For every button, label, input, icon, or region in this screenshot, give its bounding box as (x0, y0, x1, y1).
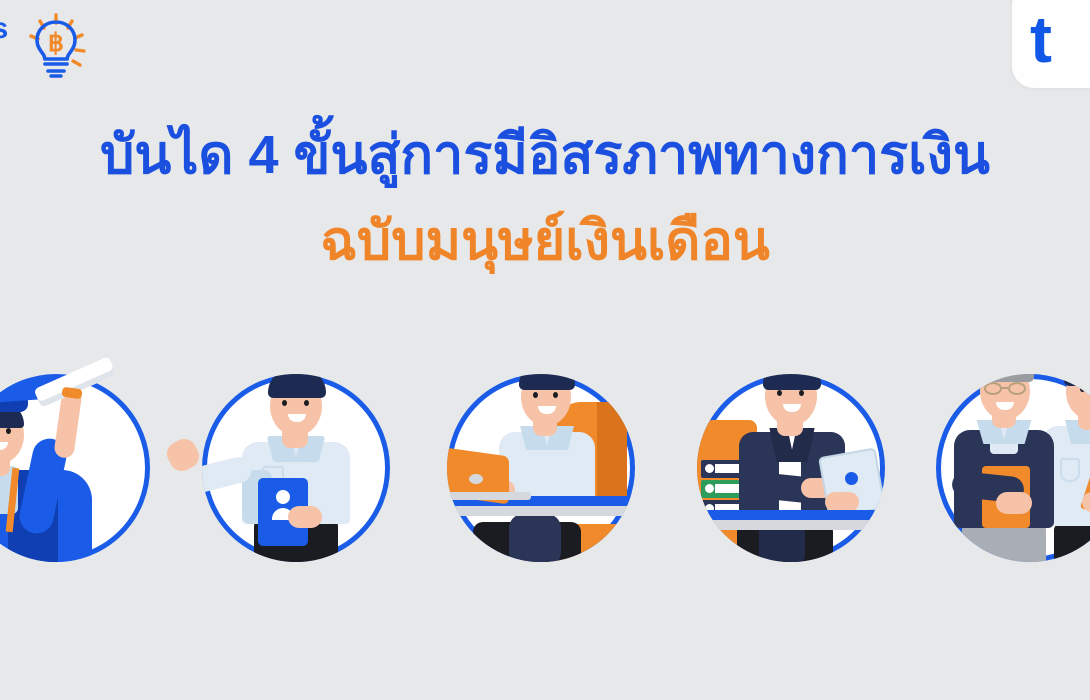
laptop-logo (469, 474, 483, 484)
graduate-scene (0, 374, 150, 562)
manager-hand-right (825, 492, 859, 512)
manager-eye-right (799, 390, 804, 396)
lightbulb-baht-icon: ฿ (20, 12, 92, 84)
mentor-glasses-bridge (1002, 387, 1008, 389)
mentor-hand (996, 492, 1032, 514)
manager-eye-left (777, 390, 782, 396)
poster-canvas: tips ttb ฿ t (0, 0, 1090, 700)
job-seeker-waving-hand (163, 435, 204, 476)
colleague-pocket (1060, 458, 1080, 482)
headline-block: บันได 4 ขั้นสู่การมีอิสรภาพทางการเงิน ฉบ… (0, 124, 1090, 273)
mentor-glasses-right (1008, 382, 1026, 395)
manager-hair (763, 374, 821, 390)
office-worker-eye-right (553, 392, 558, 398)
mentor-hair (978, 374, 1034, 382)
colleague-eye-left (1080, 386, 1085, 392)
office-worker-eye-left (533, 392, 538, 398)
graduate-diploma-group (0, 374, 150, 562)
office-worker-scene (447, 374, 635, 562)
ttb-logo-card[interactable]: t (1012, 0, 1090, 88)
illustration-row (0, 330, 1090, 620)
colleague-trousers (1054, 524, 1090, 562)
manager-scene (697, 374, 885, 562)
mentor-clip (936, 374, 1090, 562)
colleague-hair (1064, 374, 1090, 386)
manager-desk-edge (697, 510, 885, 520)
ttb-logo-mark: t (1030, 6, 1049, 72)
binder-2-ring (705, 484, 714, 493)
brand-word-tips: tips (0, 14, 7, 44)
mentor-glasses-left (984, 382, 1002, 395)
job-seeker-scene (202, 374, 390, 562)
manager-clip (697, 374, 885, 562)
tips-ttb-brand-logo[interactable]: tips ttb ฿ (0, 8, 118, 88)
office-worker-thigh (509, 514, 561, 562)
tablet-chart-dot (845, 472, 858, 485)
laptop-base (447, 492, 531, 500)
poster-subtitle: ฉบับมนุษย์เงินเดือน (0, 210, 1090, 274)
mentor-trousers (962, 524, 1046, 562)
poster-title: บันได 4 ขั้นสู่การมีอิสรภาพทางการเงิน (0, 124, 1090, 188)
mentor-scene (936, 374, 1090, 562)
office-worker-clip (447, 374, 635, 562)
office-worker-hair (519, 374, 575, 390)
binder-1-ring (705, 464, 714, 473)
baht-symbol: ฿ (48, 29, 64, 57)
job-seeker-wave-group (202, 374, 390, 562)
